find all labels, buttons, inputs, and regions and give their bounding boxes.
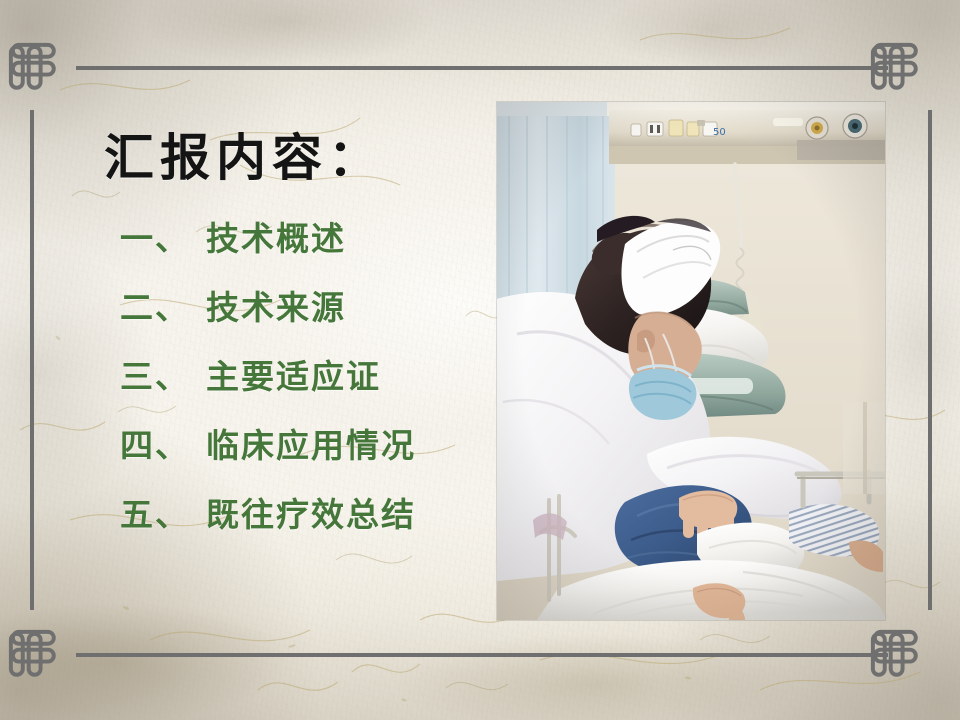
list-item-number: 一、 xyxy=(120,219,190,258)
frame-line-left xyxy=(30,110,34,610)
list-item-label: 主要适应证 xyxy=(206,357,381,396)
chinese-knot-icon-bottom-left xyxy=(0,620,65,686)
frame-line-bottom xyxy=(76,653,888,657)
frame-line-right xyxy=(928,110,932,610)
frame-line-top xyxy=(76,66,888,70)
list-item-number: 五、 xyxy=(120,495,190,534)
list-item-label: 技术来源 xyxy=(206,288,346,327)
list-item: 一、技术概述 xyxy=(120,222,500,255)
chinese-knot-icon-bottom-right xyxy=(861,620,927,686)
list-item-label: 临床应用情况 xyxy=(206,426,416,465)
clinical-photo: 50 xyxy=(497,102,885,620)
list-item-number: 四、 xyxy=(120,426,190,465)
clinical-photo-image: 50 xyxy=(497,102,885,620)
agenda-list: 一、技术概述 二、技术来源 三、主要适应证 四、临床应用情况 五、既往疗效总结 xyxy=(120,222,500,531)
list-item-number: 三、 xyxy=(120,357,190,396)
presentation-slide: 汇报内容： 一、技术概述 二、技术来源 三、主要适应证 四、临床应用情况 五、既… xyxy=(0,0,960,720)
list-item: 四、临床应用情况 xyxy=(120,429,500,462)
list-item-label: 既往疗效总结 xyxy=(206,495,416,534)
list-item: 三、主要适应证 xyxy=(120,360,500,393)
list-item: 五、既往疗效总结 xyxy=(120,498,500,531)
list-item-label: 技术概述 xyxy=(206,219,346,258)
chinese-knot-icon-top-left xyxy=(0,33,65,99)
chinese-knot-icon-top-right xyxy=(861,33,927,99)
list-item-number: 二、 xyxy=(120,288,190,327)
list-item: 二、技术来源 xyxy=(120,291,500,324)
page-title: 汇报内容： xyxy=(104,118,384,190)
